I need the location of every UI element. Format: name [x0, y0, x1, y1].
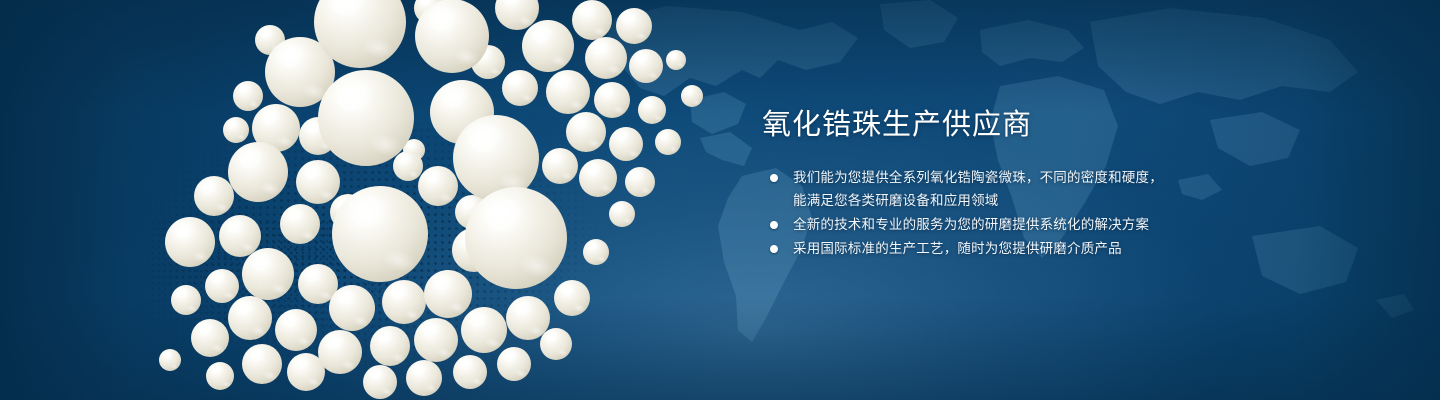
ceramic-bead [205, 269, 239, 303]
page-title: 氧化锆珠生产供应商 [762, 106, 1282, 144]
ceramic-bead [414, 318, 458, 362]
hero-banner: 氧化锆珠生产供应商 我们能为您提供全系列氧化锆陶瓷微珠，不同的密度和硬度，能满足… [0, 0, 1440, 400]
ceramic-bead [393, 151, 423, 181]
ceramic-bead [206, 362, 234, 390]
ceramic-bead [546, 70, 590, 114]
feature-list-item: 我们能为您提供全系列氧化锆陶瓷微珠，不同的密度和硬度，能满足您各类研磨设备和应用… [762, 166, 1282, 212]
feature-list: 我们能为您提供全系列氧化锆陶瓷微珠，不同的密度和硬度，能满足您各类研磨设备和应用… [762, 166, 1282, 260]
ceramic-bead [522, 20, 574, 72]
ceramic-bead [382, 280, 426, 324]
bullet-dot-icon [770, 174, 778, 182]
ceramic-bead [275, 309, 317, 351]
ceramic-bead [363, 365, 397, 399]
ceramic-bead [681, 85, 703, 107]
ceramic-bead [418, 166, 458, 206]
ceramic-bead [625, 167, 655, 197]
ceramic-bead [233, 81, 263, 111]
feature-text-line: 能满足您各类研磨设备和应用领域 [793, 189, 1282, 212]
ceramic-bead [453, 355, 487, 389]
ceramic-bead [424, 270, 472, 318]
feature-text-line: 采用国际标准的生产工艺，随时为您提供研磨介质产品 [793, 241, 1122, 256]
feature-list-item: 全新的技术和专业的服务为您的研磨提供系统化的解决方案 [762, 213, 1282, 236]
ceramic-bead [228, 142, 288, 202]
ceramic-bead [329, 285, 375, 331]
ceramic-bead [406, 360, 442, 396]
ceramic-bead [465, 187, 567, 289]
feature-text-line: 全新的技术和专业的服务为您的研磨提供系统化的解决方案 [793, 217, 1149, 232]
bullet-dot-icon [770, 221, 778, 229]
ceramic-bead [609, 201, 635, 227]
ceramic-bead [585, 37, 627, 79]
ceramic-bead [583, 239, 609, 265]
ceramic-bead [461, 307, 507, 353]
ceramic-bead [566, 112, 606, 152]
feature-text-line: 我们能为您提供全系列氧化锆陶瓷微珠，不同的密度和硬度， [793, 170, 1163, 185]
zirconia-beads-image [0, 0, 760, 400]
ceramic-bead [666, 50, 686, 70]
ceramic-bead [159, 349, 181, 371]
bullet-dot-icon [770, 245, 778, 253]
ceramic-bead [191, 319, 229, 357]
ceramic-bead [415, 0, 489, 73]
ceramic-bead [572, 0, 612, 40]
ceramic-bead [638, 96, 666, 124]
ceramic-bead [594, 82, 630, 118]
ceramic-bead [242, 248, 294, 300]
ceramic-bead [223, 117, 249, 143]
ceramic-bead [579, 159, 617, 197]
ceramic-bead [506, 296, 550, 340]
ceramic-bead [280, 204, 320, 244]
ceramic-bead [370, 326, 410, 366]
ceramic-bead [540, 328, 572, 360]
ceramic-bead [629, 49, 663, 83]
ceramic-bead [502, 70, 538, 106]
ceramic-bead [171, 285, 201, 315]
ceramic-bead [228, 296, 272, 340]
ceramic-bead [165, 217, 215, 267]
feature-list-item: 采用国际标准的生产工艺，随时为您提供研磨介质产品 [762, 237, 1282, 260]
ceramic-bead [318, 70, 414, 166]
ceramic-bead [609, 127, 643, 161]
ceramic-bead [296, 160, 340, 204]
ceramic-bead [194, 176, 234, 216]
ceramic-bead [242, 344, 282, 384]
ceramic-bead [497, 347, 531, 381]
ceramic-bead [554, 280, 590, 316]
ceramic-bead [332, 186, 428, 282]
ceramic-bead [318, 330, 362, 374]
ceramic-bead [616, 8, 652, 44]
ceramic-bead [655, 129, 681, 155]
ceramic-bead [542, 148, 578, 184]
banner-copy: 氧化锆珠生产供应商 我们能为您提供全系列氧化锆陶瓷微珠，不同的密度和硬度，能满足… [762, 106, 1282, 261]
